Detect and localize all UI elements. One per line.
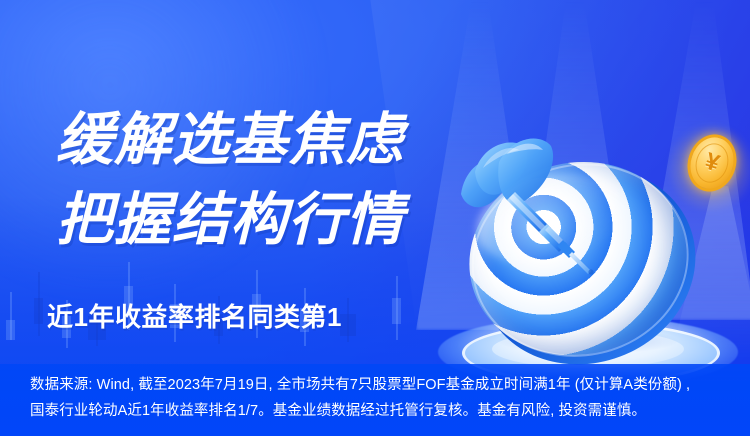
candle-bar (6, 292, 15, 358)
disclaimer-line-1: 数据来源: Wind, 截至2023年7月19日, 全市场共有7只股票型FOF基… (30, 373, 690, 394)
promo-banner: ¥ 缓解选基焦虑 把握结构行情 近1年收益率排名同类第1 数据来源: Wind,… (0, 0, 750, 436)
subtitle: 近1年收益率排名同类第1 (47, 297, 342, 334)
candle-bar (340, 298, 356, 358)
disclaimer-bar: 数据来源: Wind, 截至2023年7月19日, 全市场共有7只股票型FOF基… (0, 364, 750, 436)
candle-bar (34, 272, 43, 358)
headline: 缓解选基焦虑 把握结构行情 (56, 100, 404, 260)
disclaimer-line-2: 国泰行业轮动A近1年收益率排名1/7。基金业绩数据经过托管行复核。基金有风险, … (30, 399, 646, 420)
dart-icon (455, 132, 625, 282)
candle-bar (392, 276, 401, 358)
headline-line-1: 缓解选基焦虑 (56, 100, 404, 180)
headline-line-2: 把握结构行情 (56, 180, 404, 260)
